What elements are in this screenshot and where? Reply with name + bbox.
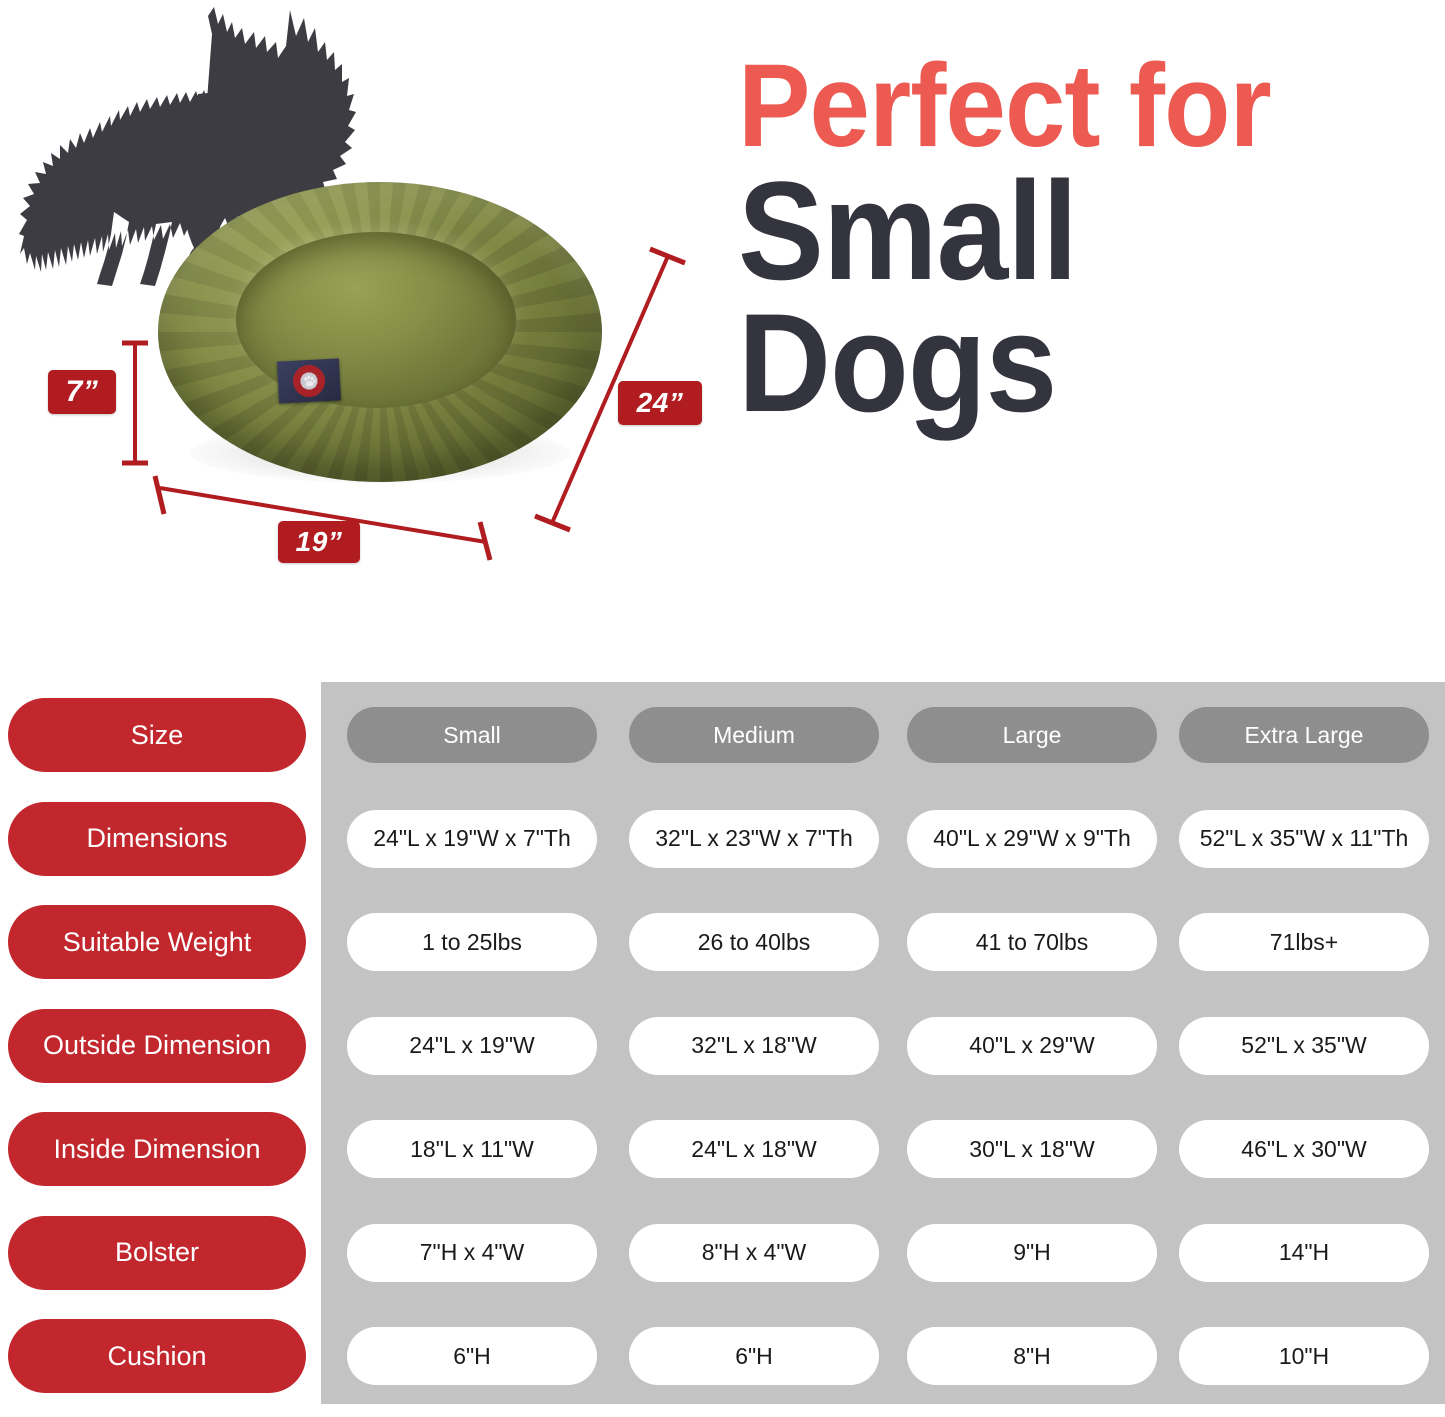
table-cell: 1 to 25lbs: [347, 913, 597, 971]
table-row-label: Cushion: [8, 1319, 306, 1393]
table-cell: 71lbs+: [1179, 913, 1429, 971]
table-row-label: Dimensions: [8, 802, 306, 876]
table-row-label: Size: [8, 698, 306, 772]
table-cell: 6"H: [347, 1327, 597, 1385]
brand-logo-ring: [292, 364, 326, 398]
table-cell: 40"L x 29"W x 9"Th: [907, 810, 1157, 868]
headline: Perfect for Small Dogs: [738, 52, 1438, 428]
table-column-header: Large: [907, 707, 1157, 763]
specification-table: SizeDimensionsSuitable WeightOutside Dim…: [0, 682, 1445, 1417]
measurement-label-height: 7”: [48, 370, 116, 414]
headline-line-3: Dogs: [738, 299, 1382, 428]
measurement-label-length: 24”: [618, 381, 702, 425]
table-row-label: Bolster: [8, 1216, 306, 1290]
headline-line-2: Small: [738, 167, 1382, 296]
table-cell: 8"H: [907, 1327, 1157, 1385]
table-cell: 52"L x 35"W x 11"Th: [1179, 810, 1429, 868]
table-cell: 14"H: [1179, 1224, 1429, 1282]
paw-print-icon: [301, 373, 317, 389]
table-cell: 10"H: [1179, 1327, 1429, 1385]
table-cell: 9"H: [907, 1224, 1157, 1282]
table-cell: 41 to 70lbs: [907, 913, 1157, 971]
table-cell: 24"L x 19"W: [347, 1017, 597, 1075]
table-column-header: Medium: [629, 707, 879, 763]
table-cell: 8"H x 4"W: [629, 1224, 879, 1282]
table-column-header: Extra Large: [1179, 707, 1429, 763]
table-cell: 6"H: [629, 1327, 879, 1385]
table-cell: 32"L x 23"W x 7"Th: [629, 810, 879, 868]
measurement-label-width: 19”: [278, 521, 360, 563]
table-column-header: Small: [347, 707, 597, 763]
table-cell: 40"L x 29"W: [907, 1017, 1157, 1075]
table-cell: 52"L x 35"W: [1179, 1017, 1429, 1075]
table-cell: 24"L x 18"W: [629, 1120, 879, 1178]
table-row-label: Suitable Weight: [8, 905, 306, 979]
table-cell: 24"L x 19"W x 7"Th: [347, 810, 597, 868]
table-cell: 18"L x 11"W: [347, 1120, 597, 1178]
measurement-line-height: [118, 338, 152, 468]
table-cell: 46"L x 30"W: [1179, 1120, 1429, 1178]
table-row-label: Outside Dimension: [8, 1009, 306, 1083]
table-row-label: Inside Dimension: [8, 1112, 306, 1186]
table-cell: 30"L x 18"W: [907, 1120, 1157, 1178]
brand-tag: [277, 358, 341, 403]
table-cell: 7"H x 4"W: [347, 1224, 597, 1282]
headline-line-1: Perfect for: [738, 52, 1382, 161]
table-cell: 32"L x 18"W: [629, 1017, 879, 1075]
hero-section: 7” 19” 24” Perfect for Small Dogs: [0, 0, 1445, 680]
table-cell: 26 to 40lbs: [629, 913, 879, 971]
